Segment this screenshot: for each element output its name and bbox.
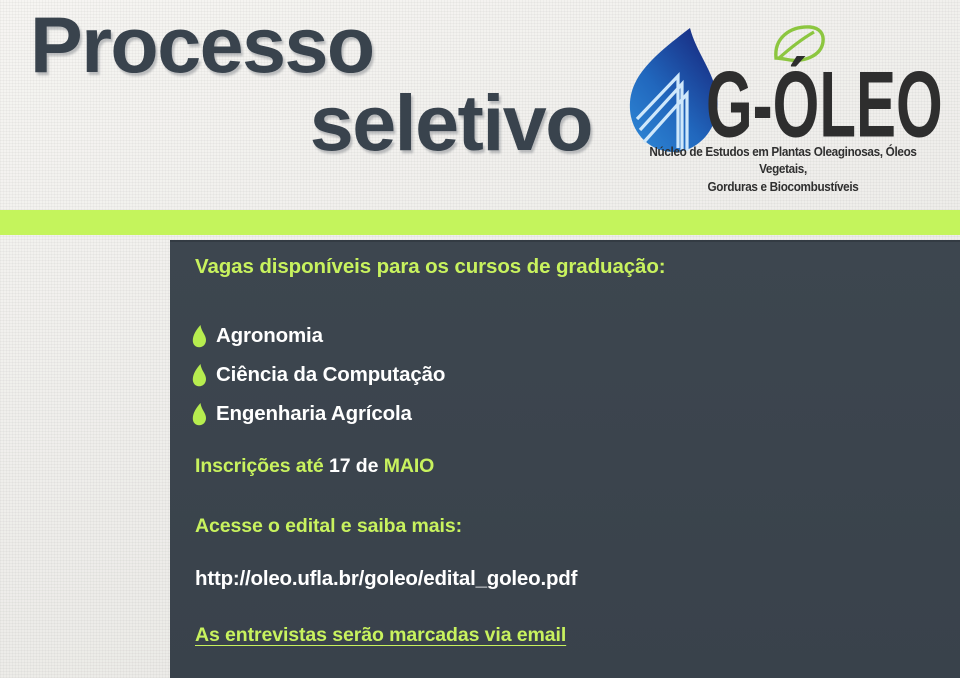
green-divider-bar — [0, 210, 960, 235]
course-label: Engenharia Agrícola — [216, 402, 412, 426]
page-title-line-1: Processo — [30, 6, 630, 84]
deadline-month: MAIO — [384, 455, 435, 477]
logo-wordmark-text: G-ÓLEO — [706, 56, 943, 144]
deadline-prefix: Inscrições até — [195, 455, 329, 477]
logo-tagline-line-1: Núcleo de Estudos em Plantas Oleaginosas… — [630, 144, 937, 179]
access-label: Acesse o edital e saiba mais: — [195, 515, 462, 538]
green-drop-bullet-icon — [192, 402, 207, 426]
list-item: Agronomia — [192, 316, 445, 355]
logo-tagline: Núcleo de Estudos em Plantas Oleaginosas… — [630, 144, 937, 196]
panel-heading: Vagas disponíveis para os cursos de grad… — [195, 255, 666, 279]
logo-wordmark: G-ÓLEO — [706, 56, 946, 144]
edital-url[interactable]: http://oleo.ufla.br/goleo/edital_goleo.p… — [195, 567, 577, 591]
page-title: Processo seletivo — [30, 6, 630, 162]
list-item: Ciência da Computação — [192, 355, 445, 394]
deadline-day: 17 de — [329, 455, 384, 477]
green-drop-bullet-icon — [192, 324, 207, 348]
green-drop-bullet-icon — [192, 363, 207, 387]
list-item: Engenharia Agrícola — [192, 394, 445, 433]
logo-tagline-line-2: Gorduras e Biocombustíveis — [630, 179, 937, 196]
interviews-note: As entrevistas serão marcadas via email — [195, 624, 566, 647]
course-label: Ciência da Computação — [216, 363, 445, 387]
deadline-line: Inscrições até 17 de MAIO — [195, 455, 434, 478]
course-list: Agronomia Ciência da Computação Engenhar… — [192, 316, 445, 433]
page-title-line-2: seletivo — [30, 84, 630, 162]
goleo-logo: G-ÓLEO Núcleo de Estudos em Plantas Olea… — [618, 22, 948, 192]
poster-canvas: Processo seletivo G-ÓLEO Núc — [0, 0, 960, 678]
course-label: Agronomia — [216, 324, 323, 348]
